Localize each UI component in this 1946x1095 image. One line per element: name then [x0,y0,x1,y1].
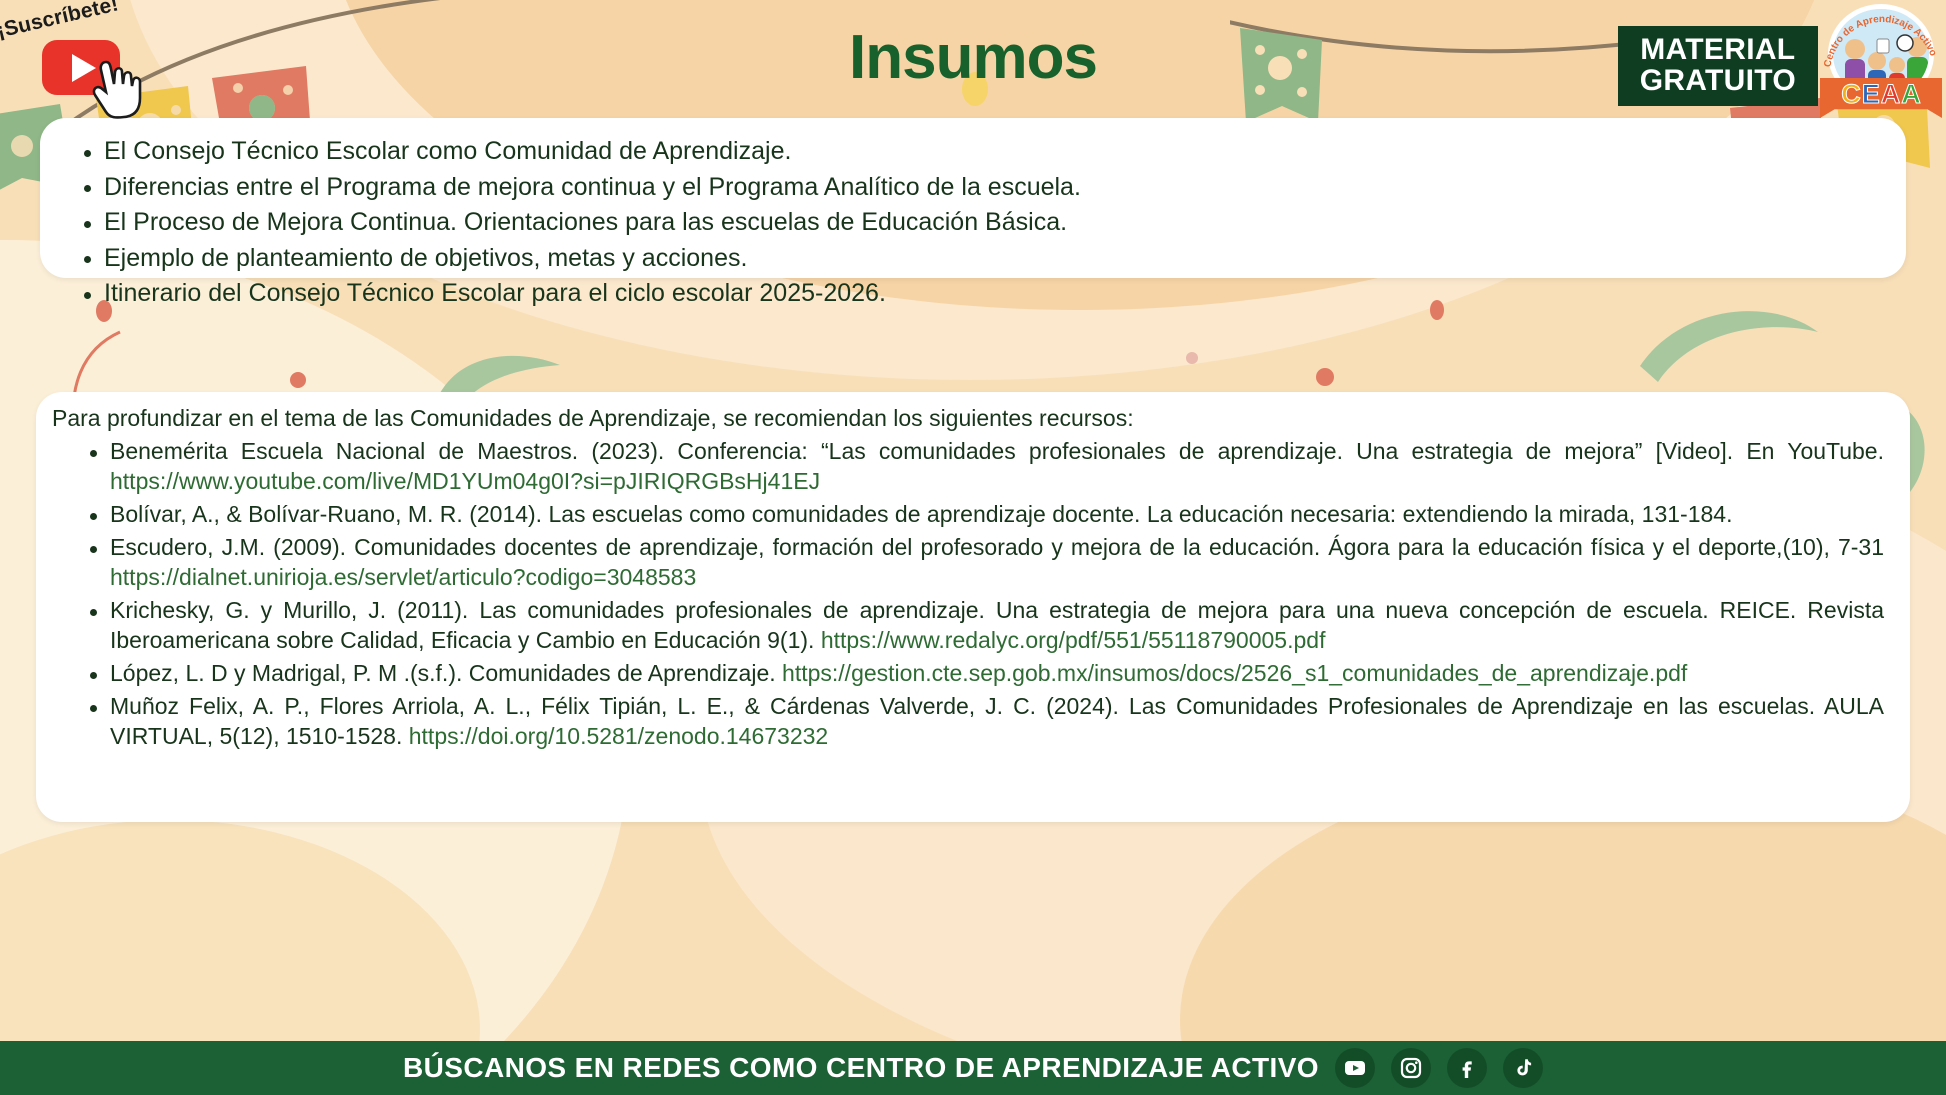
ceaa-letter-a2: A [1901,81,1921,108]
tiktok-icon[interactable] [1503,1048,1543,1088]
insumos-item: El Consejo Técnico Escolar como Comunida… [66,134,1886,170]
reference-url[interactable]: https://dialnet.unirioja.es/servlet/arti… [110,564,696,590]
material-line-1: MATERIAL [1640,34,1796,65]
instagram-icon[interactable] [1391,1048,1431,1088]
reference-url[interactable]: https://www.youtube.com/live/MD1YUm04g0I… [110,468,820,494]
insumos-list: El Consejo Técnico Escolar como Comunida… [40,118,1906,312]
reference-text: Escudero, J.M. (2009). Comunidades docen… [110,534,1884,560]
facebook-icon[interactable] [1447,1048,1487,1088]
reference-text: Bolívar, A., & Bolívar-Ruano, M. R. (201… [110,501,1732,527]
subscribe-badge[interactable]: ¡Suscríbete! [0,0,220,120]
insumos-card: El Consejo Técnico Escolar como Comunida… [40,118,1906,278]
references-intro: Para profundizar en el tema de las Comun… [36,392,1910,434]
references-card: Para profundizar en el tema de las Comun… [36,392,1910,822]
material-gratuito-badge: MATERIAL GRATUITO [1618,26,1818,106]
ceaa-letter-e: E [1862,81,1880,108]
insumos-item: Diferencias entre el Programa de mejora … [66,170,1886,206]
reference-text: López, L. D y Madrigal, P. M .(s.f.). Co… [110,660,782,686]
hand-cursor-icon [92,58,146,120]
insumos-item: Ejemplo de planteamiento de objetivos, m… [66,241,1886,277]
reference-item: Krichesky, G. y Murillo, J. (2011). Las … [72,595,1884,656]
reference-item: López, L. D y Madrigal, P. M .(s.f.). Co… [72,658,1884,689]
ceaa-ribbon: C E A A [1820,78,1942,118]
reference-url[interactable]: https://www.redalyc.org/pdf/551/55118790… [821,627,1326,653]
reference-text: Benemérita Escuela Nacional de Maestros.… [110,438,1884,464]
reference-item: Benemérita Escuela Nacional de Maestros.… [72,436,1884,497]
svg-text:Centro de Aprendizaje Activo: Centro de Aprendizaje Activo [1822,14,1938,68]
insumos-item: Itinerario del Consejo Técnico Escolar p… [66,276,1886,312]
footer-text: BÚSCANOS EN REDES COMO CENTRO DE APRENDI… [403,1052,1319,1084]
reference-item: Escudero, J.M. (2009). Comunidades docen… [72,532,1884,593]
ceaa-letter-a1: A [1881,81,1901,108]
footer-bar: BÚSCANOS EN REDES COMO CENTRO DE APRENDI… [0,1041,1946,1095]
references-list: Benemérita Escuela Nacional de Maestros.… [36,434,1910,752]
reference-text: Muñoz Felix, A. P., Flores Arriola, A. L… [110,693,1884,750]
ceaa-logo: Centro de Aprendizaje Activo C E A A [1818,4,1944,122]
reference-item: Muñoz Felix, A. P., Flores Arriola, A. L… [72,691,1884,752]
reference-url[interactable]: https://doi.org/10.5281/zenodo.14673232 [409,723,828,749]
reference-url[interactable]: https://gestion.cte.sep.gob.mx/insumos/d… [782,660,1687,686]
ceaa-letter-c: C [1841,81,1861,108]
subscribe-label: ¡Suscríbete! [0,0,121,44]
reference-item: Bolívar, A., & Bolívar-Ruano, M. R. (201… [72,499,1884,530]
material-line-2: GRATUITO [1640,65,1796,96]
youtube-icon[interactable] [1335,1048,1375,1088]
insumos-item: El Proceso de Mejora Continua. Orientaci… [66,205,1886,241]
